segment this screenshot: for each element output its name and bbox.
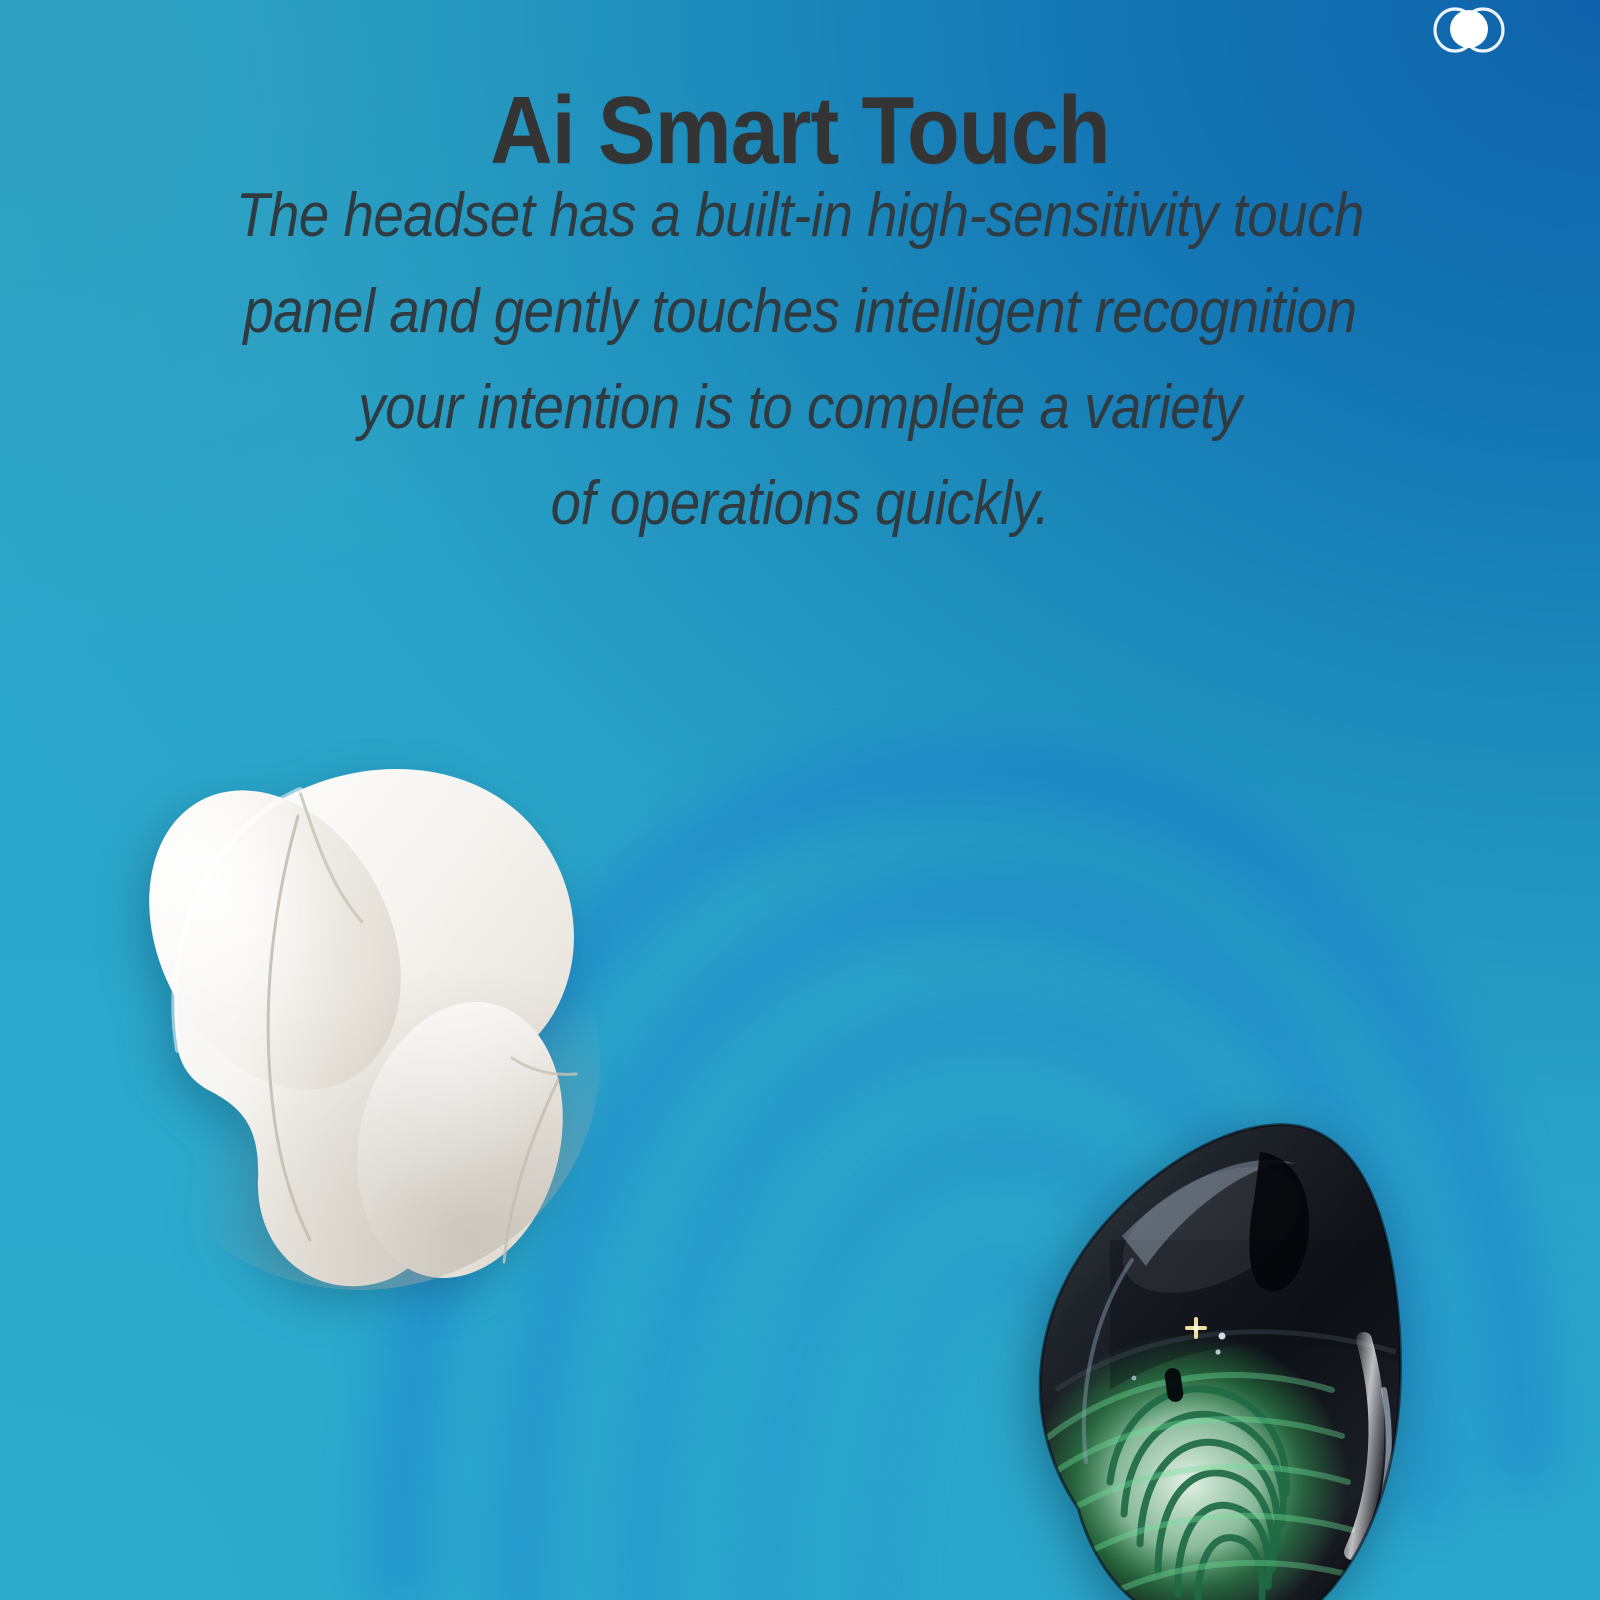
description-line: your intention is to complete a variety — [96, 360, 1504, 456]
open-ear-clip-earbud-black — [1028, 1125, 1400, 1600]
product-feature-banner: Ai Smart Touch The headset has a built-i… — [0, 0, 1600, 1600]
description-line: of operations quickly. — [96, 456, 1504, 552]
open-ear-clip-earbud-white — [99, 747, 600, 1301]
page-title: Ai Smart Touch — [80, 82, 1520, 180]
description-line: panel and gently touches intelligent rec… — [96, 264, 1504, 360]
black-earbud-image — [960, 1090, 1500, 1600]
description-line: The headset has a built-in high-sensitiv… — [96, 168, 1504, 264]
feature-description: The headset has a built-in high-sensitiv… — [96, 168, 1504, 552]
white-earbud-image — [60, 640, 740, 1320]
brand-logo — [1425, 4, 1513, 56]
dual-ring-circle-logo — [1435, 9, 1503, 51]
